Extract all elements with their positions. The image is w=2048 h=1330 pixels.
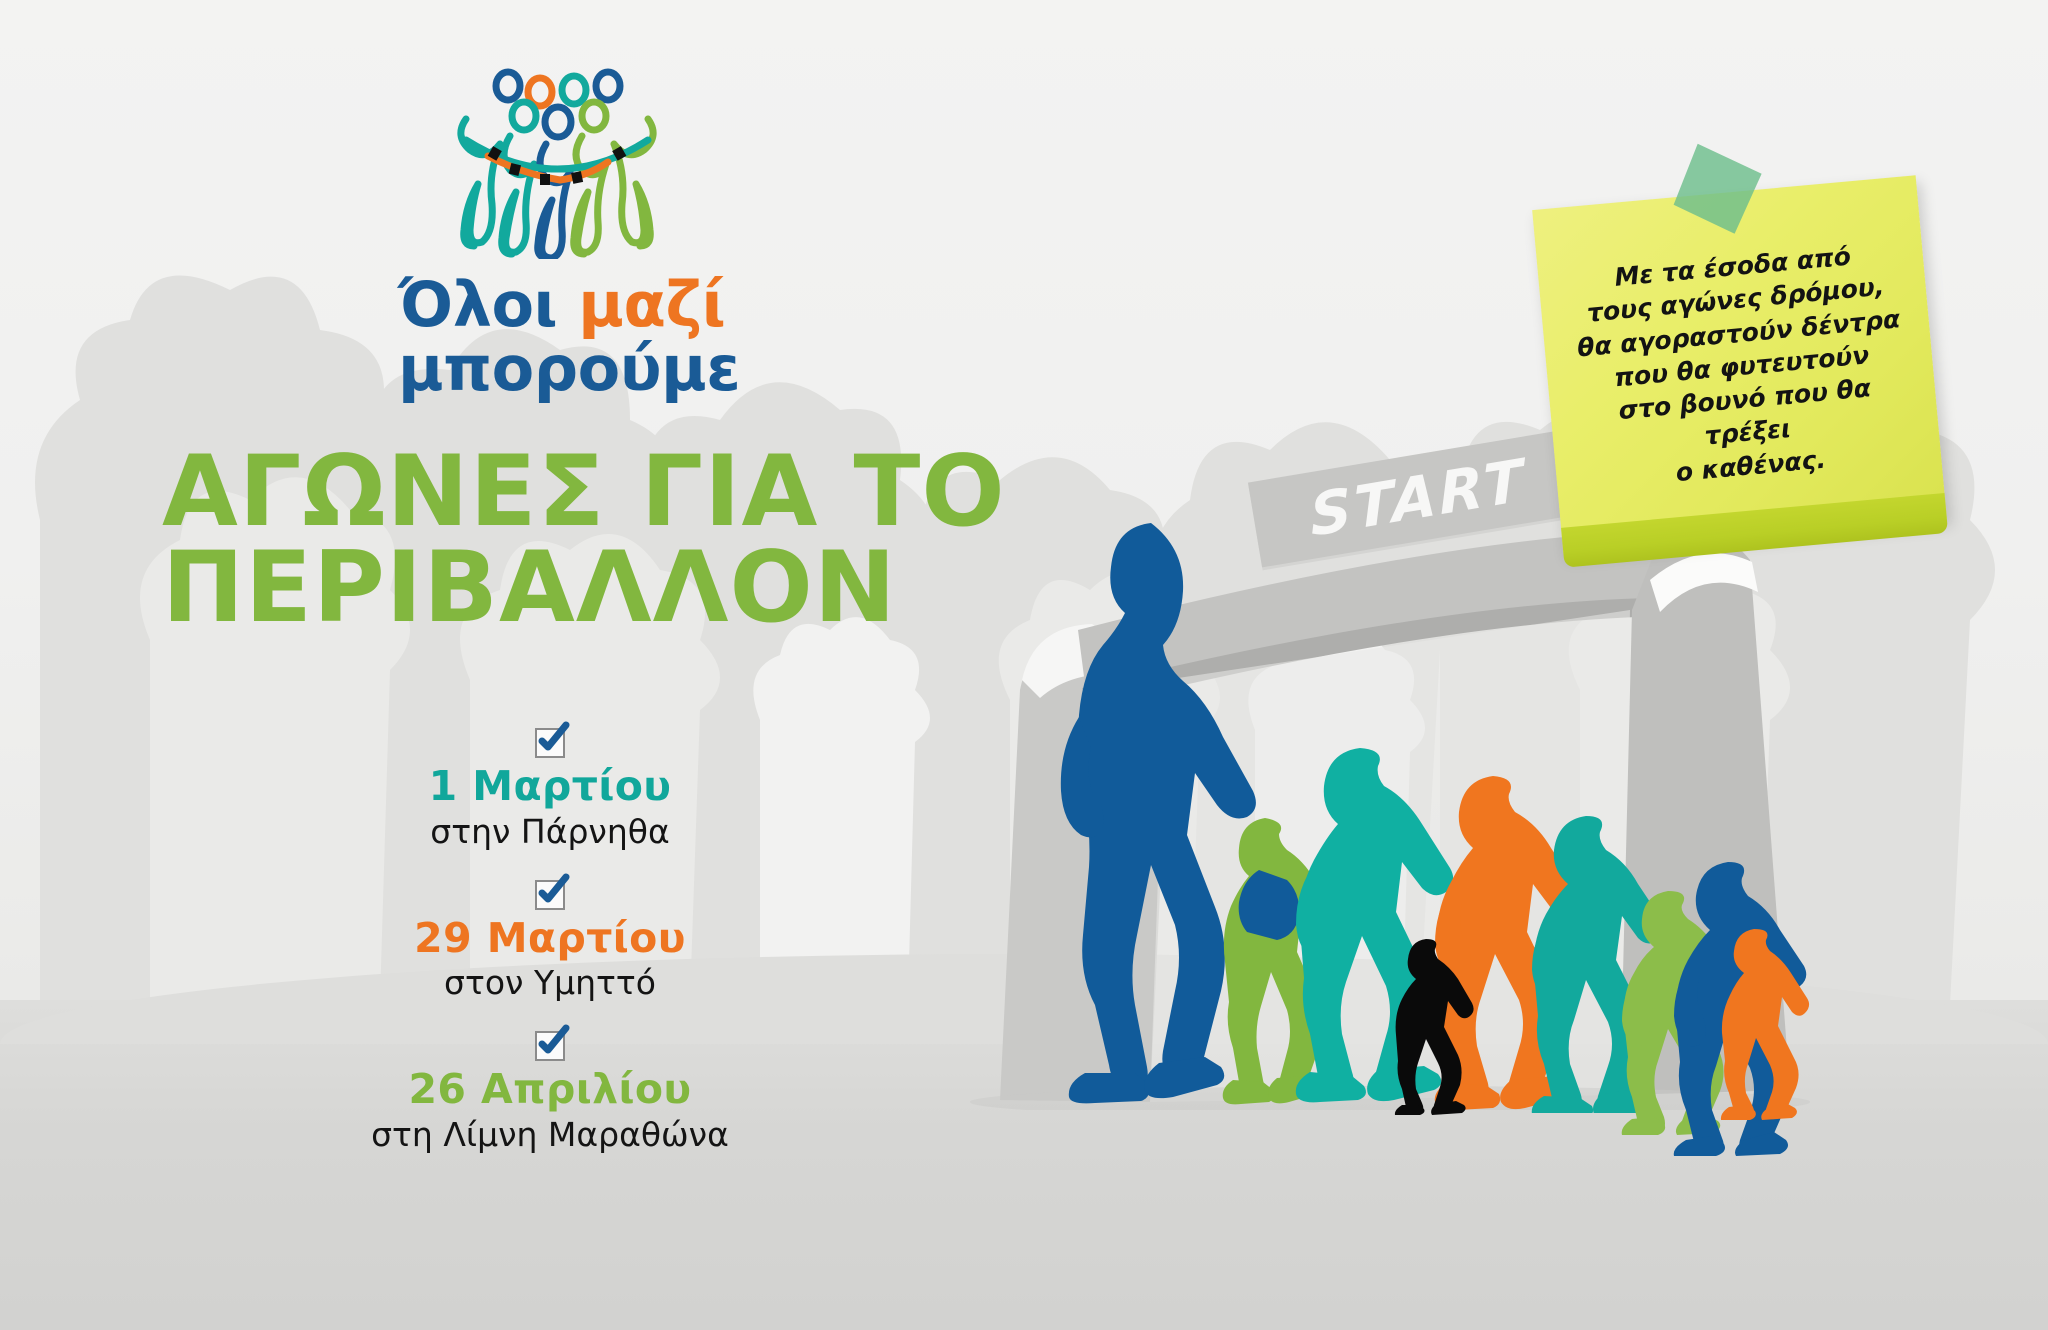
runner-black-small [1388, 935, 1483, 1115]
event-location: στην Πάρνηθα [200, 812, 900, 852]
list-item: 26 Απριλίου στη Λίμνη Μαραθώνα [200, 1031, 900, 1155]
checkbox-checked-icon [535, 880, 565, 910]
runner-orange-small [1712, 925, 1817, 1120]
brand-tagline: Όλοι μαζί μπορούμε [398, 273, 718, 402]
tagline-word-mazi: μαζί [578, 268, 725, 341]
event-date: 1 Μαρτίου [200, 764, 900, 810]
event-location: στον Υμηττό [200, 963, 900, 1003]
brand-logo-block: Όλοι μαζί μπορούμε [398, 64, 718, 402]
tagline-word-boroume: μπορούμε [398, 337, 718, 401]
list-item: 1 Μαρτίου στην Πάρνηθα [200, 728, 900, 852]
sticky-note: Με τα έσοδα από τους αγώνες δρόμου, θα α… [1532, 175, 1947, 553]
event-date: 29 Μαρτίου [200, 916, 900, 962]
headline-line-2: ΠΕΡΙΒΑΛΛΟΝ [162, 540, 1042, 636]
event-date: 26 Απριλίου [200, 1067, 900, 1113]
event-date-list: 1 Μαρτίου στην Πάρνηθα 29 Μαρτίου στον Υ… [200, 728, 900, 1183]
poster-canvas: Όλοι μαζί μπορούμε ΑΓΩΝΕΣ ΓΙΑ ΤΟ ΠΕΡΙΒΑΛ… [0, 0, 2048, 1330]
event-location: στη Λίμνη Μαραθώνα [200, 1115, 900, 1155]
checkmark-glyph [533, 1023, 571, 1061]
tagline-word-oloi: Όλοι [398, 268, 578, 341]
list-item: 29 Μαρτίου στον Υμηττό [200, 880, 900, 1004]
checkmark-glyph [533, 720, 571, 758]
people-circle-logo-icon [448, 64, 668, 259]
checkbox-checked-icon [535, 728, 565, 758]
checkbox-checked-icon [535, 1031, 565, 1061]
sticky-note-paper: Με τα έσοδα από τους αγώνες δρόμου, θα α… [1532, 175, 1947, 553]
headline-line-1: ΑΓΩΝΕΣ ΓΙΑ ΤΟ [162, 444, 1042, 540]
sticky-note-text: Με τα έσοδα από τους αγώνες δρόμου, θα α… [1565, 235, 1918, 497]
page-title: ΑΓΩΝΕΣ ΓΙΑ ΤΟ ΠΕΡΙΒΑΛΛΟΝ [162, 444, 1042, 636]
checkmark-glyph [533, 872, 571, 910]
